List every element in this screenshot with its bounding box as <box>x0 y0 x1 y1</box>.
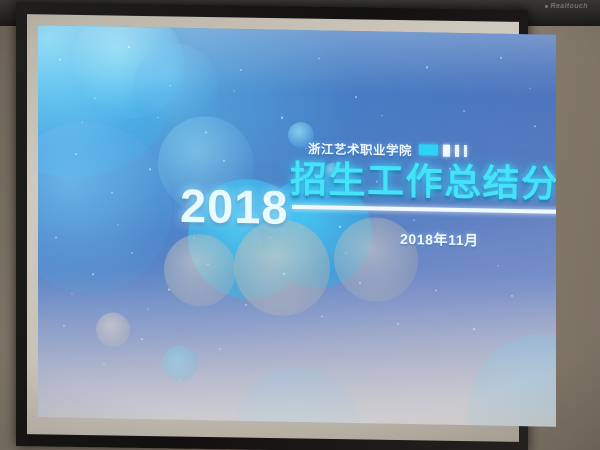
brand-dot-icon <box>545 5 548 8</box>
deco-bar-1 <box>419 144 438 155</box>
organization-name: 浙江艺术职业学院 <box>308 138 412 159</box>
slide-top-glare <box>38 25 556 97</box>
slide-main-title: 招生工作总结分析 <box>290 160 554 205</box>
deco-bar-2 <box>443 144 450 156</box>
photo-of-projection-screen: Realtouch <box>0 0 600 450</box>
decorative-bars <box>419 144 467 157</box>
deco-bar-4 <box>464 145 467 157</box>
slide-bottom-washout <box>38 268 556 426</box>
title-underline-rule <box>292 205 556 214</box>
organization-row: 浙江艺术职业学院 <box>308 138 554 162</box>
slide-title-block: 浙江艺术职业学院 招生工作总结分析 2018年11月 <box>290 138 554 252</box>
projected-slide: 2018 浙江艺术职业学院 招生工作总结分析 2018年11月 <box>38 25 556 426</box>
projector-brand-mark: Realtouch <box>545 3 588 10</box>
brand-mark-label: Realtouch <box>551 3 588 10</box>
deco-bar-3 <box>455 144 459 156</box>
slide-date: 2018年11月 <box>400 229 554 252</box>
slide-year-numeral: 2018 <box>180 178 289 235</box>
